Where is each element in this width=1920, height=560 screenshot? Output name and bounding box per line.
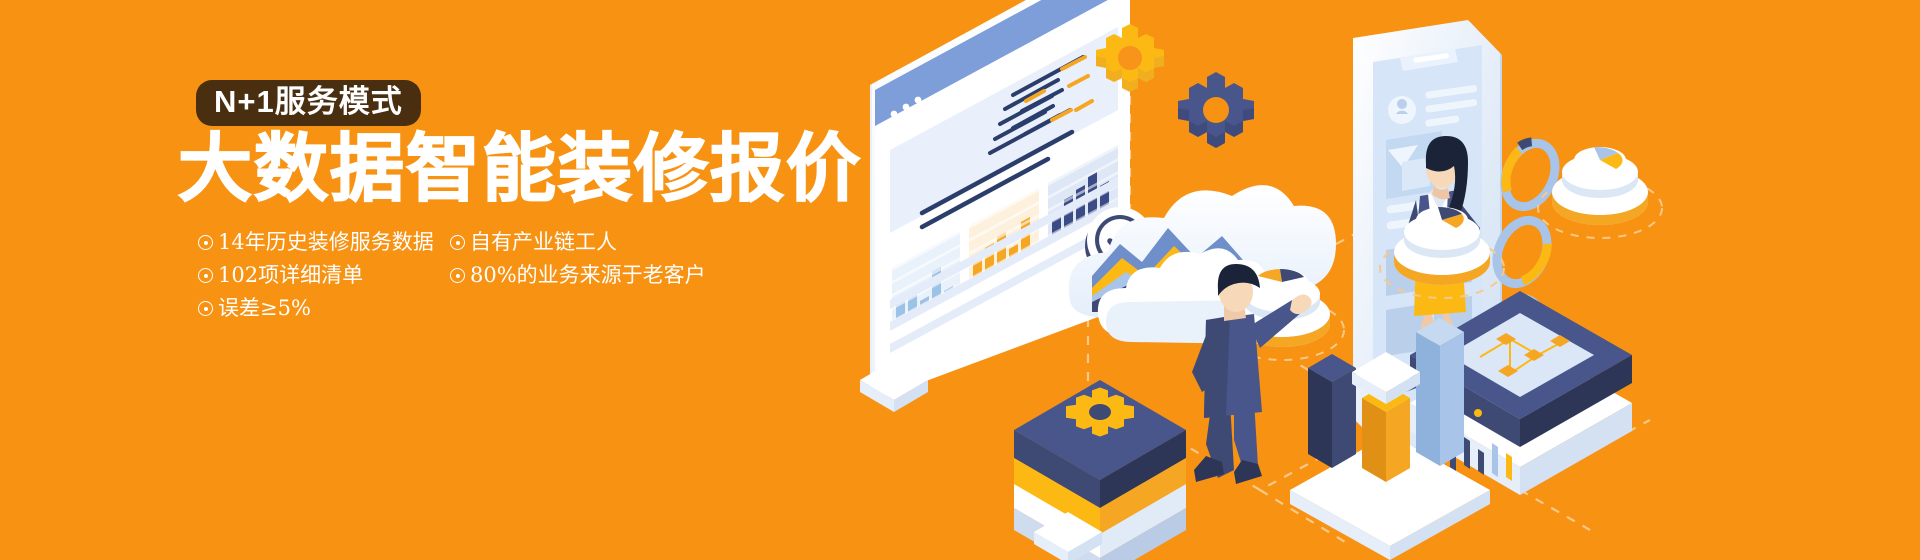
- feature-row: 102项详细清单 80%的业务来源于老客户: [198, 259, 758, 292]
- circled-dot-icon: [198, 301, 213, 316]
- circled-dot-icon: [198, 235, 213, 250]
- isometric-big-data-illustration: [830, 0, 1920, 560]
- window-dot-icon: [915, 97, 922, 104]
- feature-text: 102项详细清单: [218, 263, 363, 287]
- page-title: 大数据智能装修报价: [178, 132, 862, 206]
- feature-item: 误差≥5%: [198, 292, 311, 325]
- circled-dot-icon: [450, 235, 465, 250]
- feature-item: 102项详细清单: [198, 259, 363, 292]
- feature-text: 误差≥5%: [218, 296, 311, 320]
- feature-row: 误差≥5%: [198, 292, 758, 325]
- feature-text: 14年历史装修服务数据: [218, 230, 434, 254]
- circled-dot-icon: [198, 268, 213, 283]
- window-dot-icon: [891, 111, 898, 118]
- browser-dashboard-window: [870, 0, 1130, 400]
- service-mode-badge: N+1服务模式: [196, 80, 421, 126]
- feature-row: 14年历史装修服务数据 自有产业链工人: [198, 226, 758, 259]
- banner-copy: N+1服务模式 大数据智能装修报价 14年历史装修服务数据 自有产业链工人 10…: [0, 0, 900, 560]
- gear-dark-blue: [1178, 72, 1254, 148]
- promo-banner: N+1服务模式 大数据智能装修报价 14年历史装修服务数据 自有产业链工人 10…: [0, 0, 1920, 560]
- feature-item: 自有产业链工人: [450, 226, 617, 259]
- circled-dot-icon: [450, 268, 465, 283]
- feature-text: 80%的业务来源于老客户: [470, 263, 706, 287]
- feature-item: 80%的业务来源于老客户: [450, 259, 706, 292]
- feature-text: 自有产业链工人: [470, 230, 617, 254]
- feature-item: 14年历史装修服务数据: [198, 226, 434, 259]
- window-dot-icon: [903, 104, 910, 111]
- feature-list: 14年历史装修服务数据 自有产业链工人 102项详细清单 80%的业务来源于老客…: [198, 226, 758, 325]
